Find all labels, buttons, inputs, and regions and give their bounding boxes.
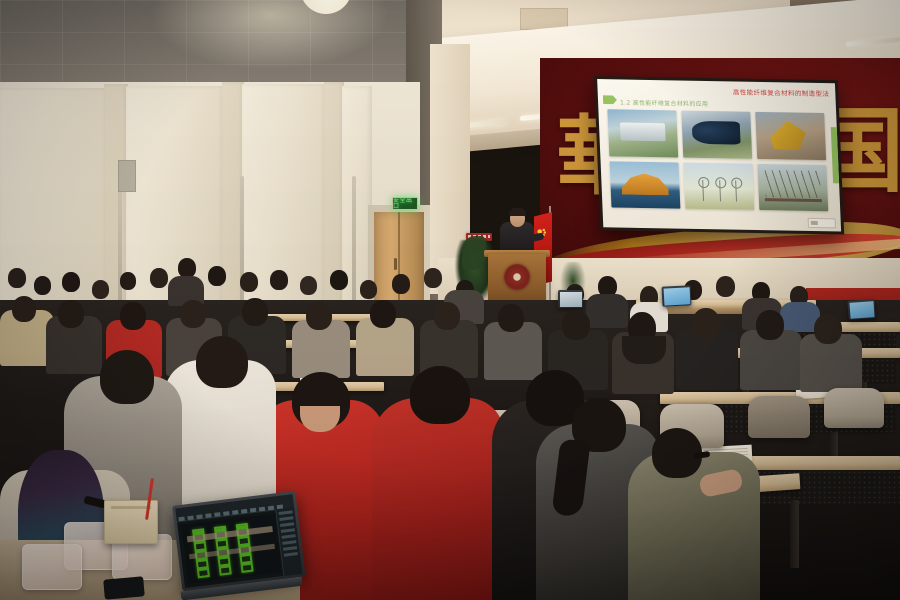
student-head — [196, 336, 248, 388]
lecture-chair[interactable] — [824, 388, 884, 428]
audience-head — [434, 302, 460, 330]
audience-head — [92, 280, 109, 299]
audience-laptop[interactable] — [847, 299, 875, 320]
audience-head — [756, 310, 784, 340]
laptop-screen — [560, 292, 582, 307]
desk-leg — [790, 500, 799, 568]
audience-head — [242, 298, 268, 326]
audience-torso — [586, 294, 628, 328]
audience-head — [392, 274, 410, 294]
photo-train — [681, 111, 752, 159]
photo-oil-rig — [610, 161, 681, 209]
slide-chevron-icon — [603, 95, 617, 104]
slide-accent-bar — [831, 127, 839, 183]
slide-photo-grid — [607, 109, 828, 211]
exit-sign-icon: 安全出口 — [392, 197, 418, 210]
audience-head — [716, 276, 735, 297]
audience-head — [330, 270, 348, 290]
audience-head — [178, 258, 196, 278]
laptop-screen — [849, 301, 874, 319]
audience-head — [270, 270, 288, 290]
audience-head — [306, 302, 332, 330]
audience-head — [34, 276, 51, 295]
photo-crane — [755, 112, 826, 160]
audience-head — [62, 272, 80, 292]
audience-laptop[interactable] — [558, 290, 583, 308]
audience-head — [120, 272, 136, 290]
sample-bag[interactable] — [22, 544, 82, 590]
smartphone[interactable] — [103, 576, 145, 599]
audience-head — [370, 300, 396, 328]
presenter-hair — [509, 208, 526, 216]
student-red-hoodie — [372, 398, 504, 600]
photo-wind-turbines — [683, 162, 754, 210]
wall-light-strip — [118, 190, 122, 308]
university-emblem-icon — [504, 264, 530, 290]
wall-access-plate — [118, 160, 136, 192]
audience-head — [360, 280, 377, 299]
audience-head — [240, 272, 258, 292]
photo-bridge — [757, 163, 828, 211]
photo-truck — [607, 109, 678, 157]
audience-head — [12, 296, 36, 322]
door-handle[interactable] — [394, 258, 397, 270]
lecture-hall-photo: 安全出口 華 国 高性能纤维复合材料的制造型法 1.2 高性能纤维复合材料的应用 — [0, 0, 900, 600]
audience-head — [424, 268, 442, 288]
student-head — [100, 350, 154, 404]
audience-head — [150, 268, 168, 288]
audience-hair-long — [622, 336, 666, 364]
audience-head — [8, 268, 26, 288]
audience-head — [562, 310, 590, 340]
audience-head — [120, 302, 146, 330]
student-head — [410, 366, 470, 424]
foreground-laptop[interactable] — [172, 491, 304, 593]
audience-head — [58, 300, 84, 328]
slide-subtitle: 1.2 高性能纤维复合材料的应用 — [620, 97, 709, 108]
audience-head — [814, 314, 842, 344]
audience-head — [498, 304, 524, 332]
audience-head — [208, 266, 226, 286]
laptop-screen — [663, 287, 690, 305]
cad-application-screen[interactable] — [175, 494, 302, 588]
audience-laptop[interactable] — [661, 285, 691, 306]
wall-light-strip — [352, 176, 356, 304]
projection-screen: 高性能纤维复合材料的制造型法 1.2 高性能纤维复合材料的应用 — [594, 76, 844, 235]
lecture-chair[interactable] — [748, 396, 810, 438]
plant-foliage — [462, 236, 486, 270]
audience-head — [180, 300, 206, 328]
cad-canvas[interactable] — [181, 514, 281, 584]
projector-control-panel[interactable] — [808, 218, 836, 229]
exit-sign-text: 安全出口 — [393, 198, 417, 210]
door-center-seam — [398, 212, 400, 310]
laptop-lid — [172, 491, 306, 591]
slide-title: 高性能纤维复合材料的制造型法 — [733, 86, 830, 98]
audience-head — [300, 276, 317, 295]
slide-surface: 高性能纤维复合材料的制造型法 1.2 高性能纤维复合材料的应用 — [597, 79, 841, 231]
audience-head — [692, 308, 720, 340]
